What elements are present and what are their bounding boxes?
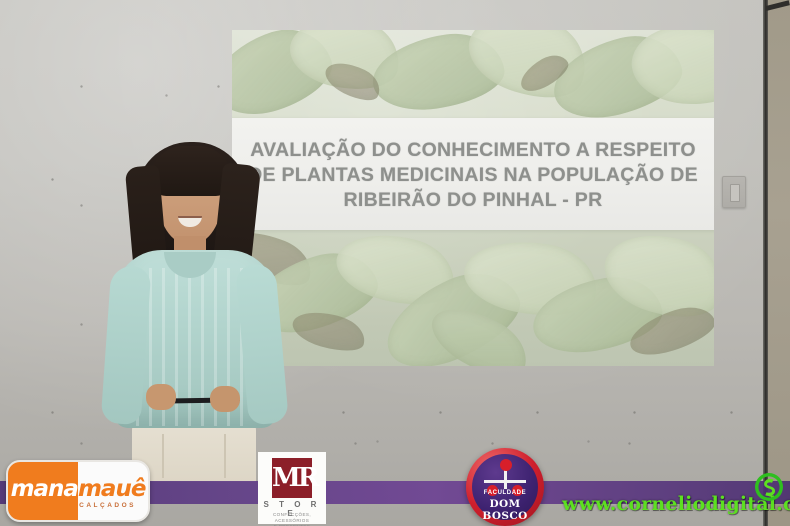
sponsor-logo-mr-store[interactable]: MR S T O R E CONFECÇÕES, ACESSÓRIOS E PR… <box>258 452 326 524</box>
trousers <box>132 420 256 482</box>
light-switch[interactable] <box>722 176 746 208</box>
slide-title-box: AVALIAÇÃO DO CONHECIMENTO A RESPEITO DE … <box>232 118 714 230</box>
hand-right <box>210 386 240 412</box>
projected-slide: AVALIAÇÃO DO CONHECIMENTO A RESPEITO DE … <box>232 30 714 366</box>
manamaue-wordmark: manamauê <box>8 476 148 502</box>
hand-left <box>146 384 176 410</box>
sponsor-logo-dom-bosco[interactable]: FACULDADE DOM BOSCO <box>466 448 544 526</box>
presenter <box>92 140 292 470</box>
manamaue-tagline: CALÇADOS <box>79 502 136 509</box>
side-wall <box>768 0 790 526</box>
db-glyph-crossbar <box>484 480 526 483</box>
slide-title-line-3: RIBEIRÃO DO PINHAL - PR <box>232 188 714 213</box>
corneliodigital-logo-icon[interactable] <box>752 470 786 504</box>
dom-bosco-prefix: FACULDADE <box>466 490 544 496</box>
screenshot-root: AVALIAÇÃO DO CONHECIMENTO A RESPEITO DE … <box>0 0 790 526</box>
db-glyph-dot-top <box>500 459 512 471</box>
light-switch-toggle[interactable] <box>730 184 740 202</box>
slide-title: AVALIAÇÃO DO CONHECIMENTO A RESPEITO DE … <box>232 138 714 213</box>
mr-tagline: CONFECÇÕES, ACESSÓRIOS E PRESENTES <box>258 512 326 526</box>
mr-monogram: MR <box>272 458 312 498</box>
manamaue-wordmark-part-b: mauê <box>78 476 145 502</box>
manamaue-wordmark-part-a: mana <box>11 476 78 502</box>
mr-tagline-line-1: CONFECÇÕES, ACESSÓRIOS <box>258 512 326 524</box>
sponsor-logo-manamaue[interactable]: manamauê CALÇADOS <box>6 460 150 522</box>
dom-bosco-name: DOM BOSCO <box>466 498 544 522</box>
slide-title-line-1: AVALIAÇÃO DO CONHECIMENTO A RESPEITO <box>232 138 714 163</box>
slide-title-line-2: DE PLANTAS MEDICINAIS NA POPULAÇÃO DE <box>232 163 714 188</box>
